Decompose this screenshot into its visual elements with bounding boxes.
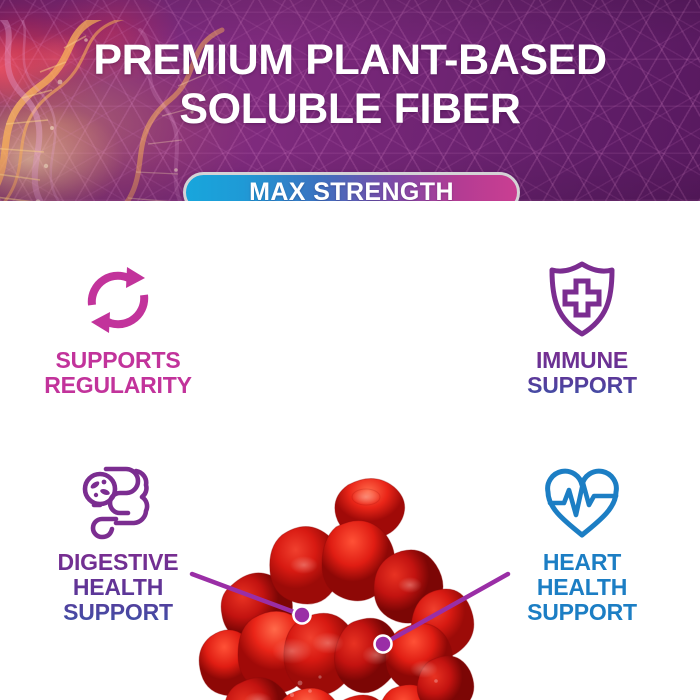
label-line-1: IMMUNE <box>482 348 682 373</box>
label-line-2: HEALTH <box>18 575 218 600</box>
label-line-1: SUPPORTS <box>18 348 218 373</box>
label-line-3: SUPPORT <box>18 600 218 625</box>
feature-label-supports-regularity: SUPPORTS REGULARITY <box>18 348 218 398</box>
red-gummies-pile <box>196 469 496 700</box>
feature-digestive-health-support: DIGESTIVE HEALTH SUPPORT <box>18 455 218 625</box>
infographic-page: PREMIUM PLANT-BASED SOLUBLE FIBER MAX ST… <box>0 0 700 700</box>
refresh-cycle-icon <box>18 253 218 339</box>
label-line-2: HEALTH <box>482 575 682 600</box>
page-title: PREMIUM PLANT-BASED SOLUBLE FIBER <box>0 36 700 134</box>
title-line-1: PREMIUM PLANT-BASED <box>93 36 606 84</box>
header-banner: PREMIUM PLANT-BASED SOLUBLE FIBER <box>0 0 700 201</box>
shield-cross-icon <box>482 253 682 339</box>
feature-immune-support: IMMUNE SUPPORT <box>482 253 682 398</box>
label-line-1: HEART <box>482 550 682 575</box>
feature-label-immune-support: IMMUNE SUPPORT <box>482 348 682 398</box>
intestine-microbiome-icon <box>18 455 218 541</box>
label-line-2: REGULARITY <box>18 373 218 398</box>
feature-label-digestive-health-support: DIGESTIVE HEALTH SUPPORT <box>18 550 218 625</box>
title-line-2: SOLUBLE FIBER <box>10 85 690 134</box>
feature-label-heart-health-support: HEART HEALTH SUPPORT <box>482 550 682 625</box>
label-line-2: SUPPORT <box>482 373 682 398</box>
feature-supports-regularity: SUPPORTS REGULARITY <box>18 253 218 398</box>
heart-pulse-icon <box>482 455 682 541</box>
features-section: SUPPORTS REGULARITY IMMUNE SUPPORT <box>0 201 700 700</box>
feature-heart-health-support: HEART HEALTH SUPPORT <box>482 455 682 625</box>
label-line-1: DIGESTIVE <box>18 550 218 575</box>
label-line-3: SUPPORT <box>482 600 682 625</box>
